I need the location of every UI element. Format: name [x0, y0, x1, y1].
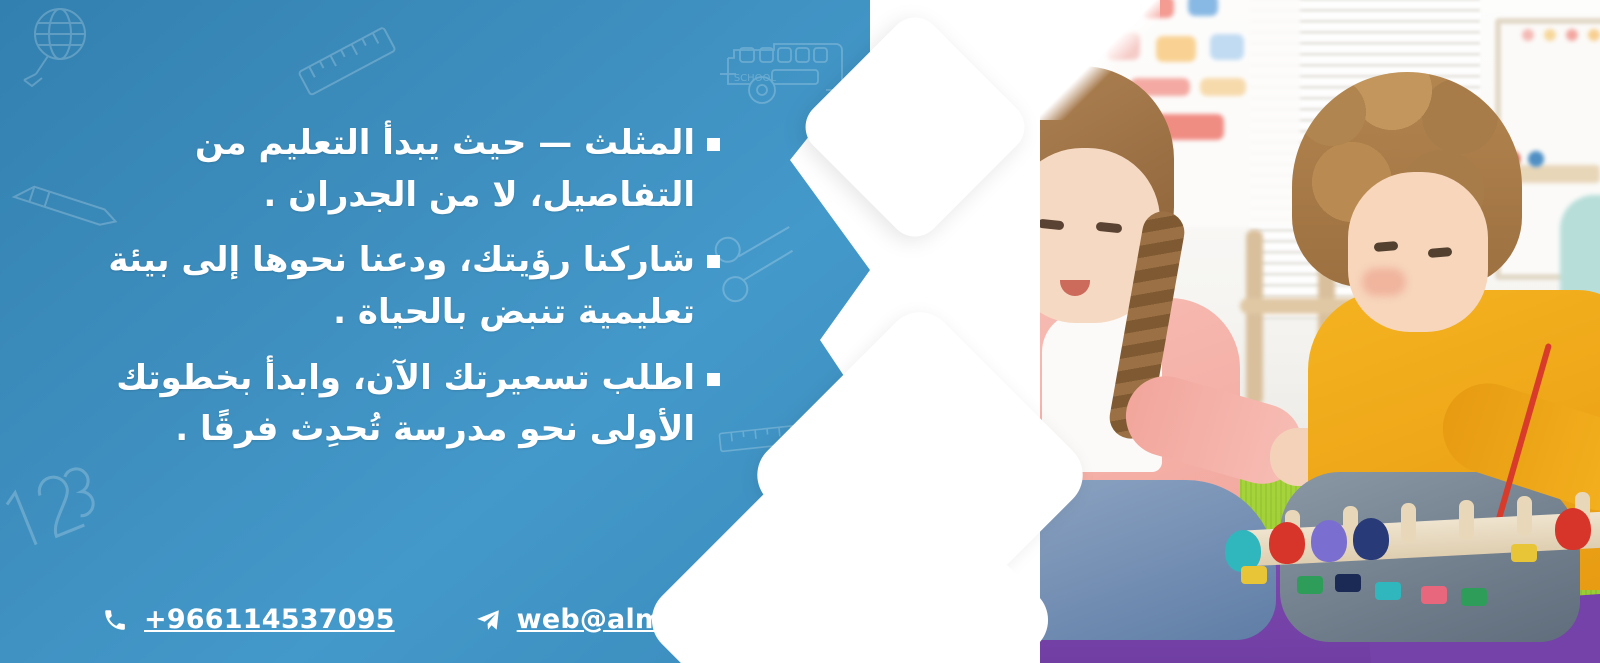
square-bullet-icon — [707, 138, 720, 151]
square-bullet-icon — [707, 255, 720, 268]
list-item: اطلب تسعيرتك الآن، وابدأ بخطوتك الأولى ن… — [60, 353, 720, 456]
list-item: شاركنا رؤيتك، ودعنا نحوها إلى بيئة تعليم… — [60, 235, 720, 338]
square-bullet-icon — [707, 373, 720, 386]
phone-contact[interactable]: +966114537095 — [100, 604, 395, 635]
photo-corner-fade — [1040, 0, 1160, 120]
list-item: المثلث — حيث يبدأ التعليم من التفاصيل، ل… — [60, 118, 720, 221]
contact-bar: +966114537095 web@almothalath.com — [100, 604, 867, 635]
bullet-text: اطلب تسعيرتك الآن، وابدأ بخطوتك الأولى ن… — [60, 353, 695, 456]
email-address: web@almothalath.com — [517, 604, 867, 635]
bullet-text: المثلث — حيث يبدأ التعليم من التفاصيل، ل… — [60, 118, 695, 221]
promo-banner: SCHOOL — [0, 0, 1600, 663]
wooden-toys — [1225, 470, 1600, 560]
bullet-list: المثلث — حيث يبدأ التعليم من التفاصيل، ل… — [60, 118, 720, 470]
easel-magnets — [1520, 28, 1600, 42]
phone-icon — [100, 605, 130, 635]
text-content-column: المثلث — حيث يبدأ التعليم من التفاصيل، ل… — [40, 0, 720, 663]
email-contact[interactable]: web@almothalath.com — [473, 604, 867, 635]
bullet-text: شاركنا رؤيتك، ودعنا نحوها إلى بيئة تعليم… — [60, 235, 695, 338]
paper-plane-icon — [473, 605, 503, 635]
children-playing-classroom-photo — [1040, 0, 1600, 663]
phone-number: +966114537095 — [144, 604, 395, 635]
